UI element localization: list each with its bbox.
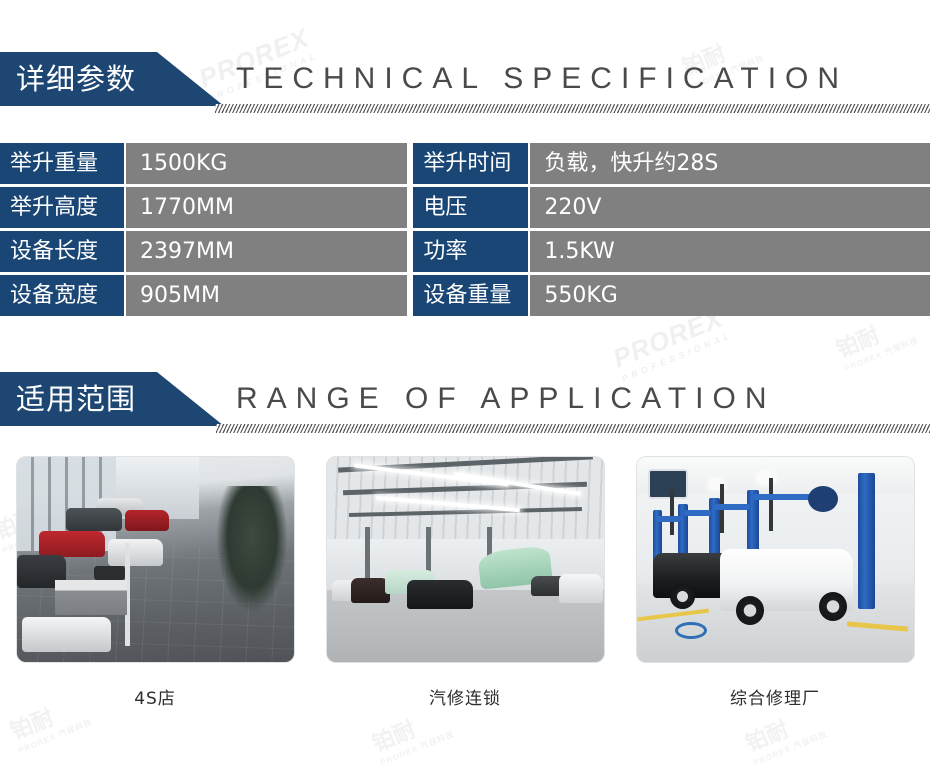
spec-pair-right: 功率 1.5KW (413, 231, 930, 272)
spec-value: 1500KG (126, 143, 407, 184)
section-english-title: RANGE OF APPLICATION (236, 378, 776, 420)
section-hatch-divider (216, 424, 930, 433)
section-banner-label: 详细参数 (16, 61, 136, 97)
spec-key: 设备长度 (0, 231, 124, 272)
section-head-wrap: 适用范围 RANGE OF APPLICATION (0, 372, 930, 434)
watermark-cn-sub: PROREX 汽保科技 (752, 728, 829, 768)
spec-value: 1770MM (126, 187, 407, 228)
application-gallery: 4S店 (0, 457, 930, 709)
spec-value: 1.5KW (530, 231, 930, 272)
photo-auto-repair-chain-workshop (327, 457, 604, 662)
gallery-item-general-repair[interactable]: 综合修理厂 (620, 457, 930, 709)
workshop-monitor-icon (648, 469, 688, 499)
table-row: 举升高度 1770MM 电压 220V (0, 187, 930, 228)
spec-pair-right: 电压 220V (413, 187, 930, 228)
spec-key: 举升时间 (413, 143, 528, 184)
spec-key: 功率 (413, 231, 528, 272)
spec-pair-left: 举升高度 1770MM (0, 187, 407, 228)
section-banner-label: 适用范围 (16, 381, 136, 417)
spec-pair-right: 设备重量 550KG (413, 275, 930, 316)
spec-value: 905MM (126, 275, 407, 316)
spec-value: 550KG (530, 275, 930, 316)
gallery-photo-frame[interactable] (17, 457, 294, 662)
spec-pair-right: 举升时间 负载，快升约28S (413, 143, 930, 184)
specification-table: 举升重量 1500KG 举升时间 负载，快升约28S 举升高度 1770MM 电… (0, 143, 930, 316)
table-row: 设备长度 2397MM 功率 1.5KW (0, 231, 930, 272)
spec-key: 举升高度 (0, 187, 124, 228)
section-header-technical-specification: 详细参数 TECHNICAL SPECIFICATION (0, 52, 930, 114)
spec-value: 负载，快升约28S (530, 143, 930, 184)
gallery-item-dealership[interactable]: 4S店 (0, 457, 310, 709)
gallery-photo-frame[interactable] (637, 457, 914, 662)
table-row: 设备宽度 905MM 设备重量 550KG (0, 275, 930, 316)
spec-value: 220V (530, 187, 930, 228)
watermark-cn-bottom-center: 铂耐 PROREX 汽保科技 (367, 699, 456, 768)
spec-pair-left: 设备宽度 905MM (0, 275, 407, 316)
spec-key: 设备重量 (413, 275, 528, 316)
gallery-item-caption: 4S店 (134, 684, 176, 709)
spec-key: 设备宽度 (0, 275, 124, 316)
spec-key: 电压 (413, 187, 528, 228)
watermark-cn-sub: PROREX 汽保科技 (379, 728, 456, 768)
gallery-item-caption: 综合修理厂 (730, 684, 820, 709)
section-head-wrap: 详细参数 TECHNICAL SPECIFICATION (0, 52, 930, 114)
photo-general-repair-shop (637, 457, 914, 662)
gallery-item-caption: 汽修连锁 (429, 684, 501, 709)
gallery-photo-frame[interactable] (327, 457, 604, 662)
gallery-item-repair-chain[interactable]: 汽修连锁 (310, 457, 620, 709)
watermark-cn-sub: PROREX 汽保科技 (17, 716, 94, 756)
spec-key: 举升重量 (0, 143, 124, 184)
section-hatch-divider (215, 104, 930, 113)
section-header-range-of-application: 适用范围 RANGE OF APPLICATION (0, 372, 930, 434)
photo-car-dealership-showroom (17, 457, 294, 662)
spec-pair-left: 设备长度 2397MM (0, 231, 407, 272)
table-row: 举升重量 1500KG 举升时间 负载，快升约28S (0, 143, 930, 184)
spec-pair-left: 举升重量 1500KG (0, 143, 407, 184)
spec-value: 2397MM (126, 231, 407, 272)
watermark-cn-bottom-right: 铂耐 PROREX 汽保科技 (740, 699, 829, 768)
watermark-cn-sub: PROREX 汽保科技 (843, 334, 920, 374)
section-english-title: TECHNICAL SPECIFICATION (236, 58, 848, 100)
